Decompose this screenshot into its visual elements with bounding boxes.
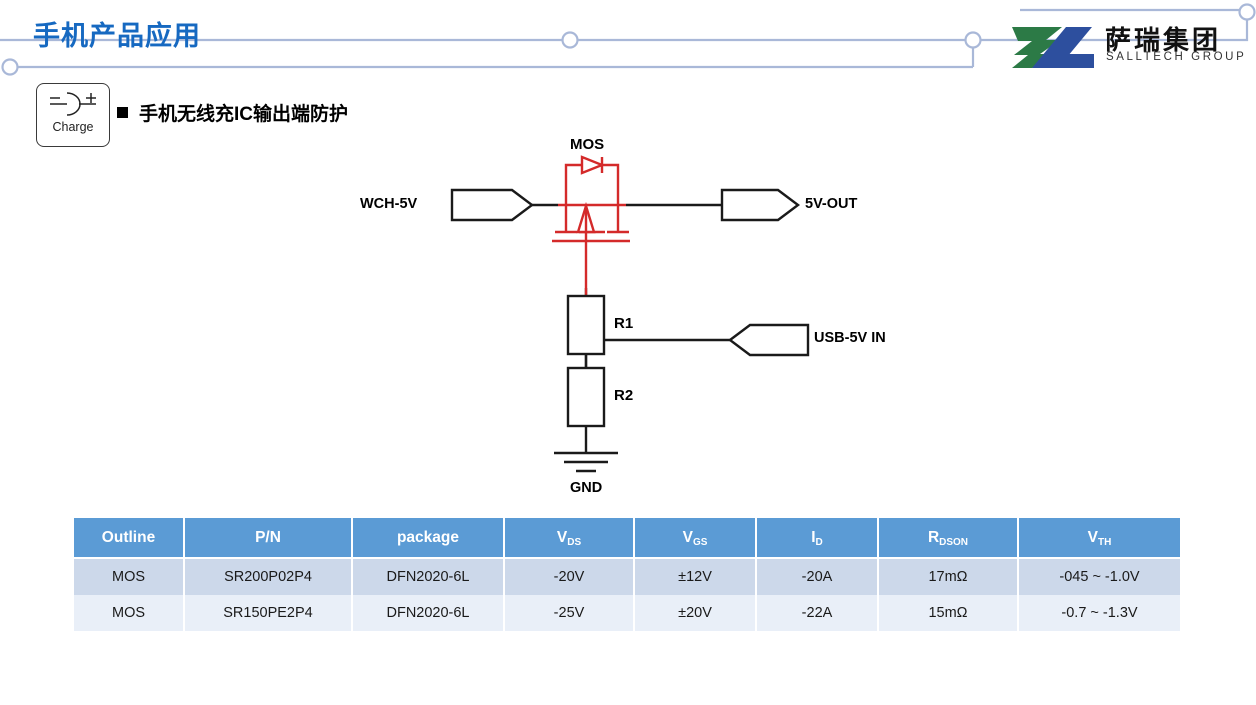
cell-id: -20A xyxy=(756,558,878,595)
mosfet-symbol xyxy=(552,157,630,296)
col-header-rdson: RDSON xyxy=(878,518,1018,558)
cell-rdson: 15mΩ xyxy=(878,595,1018,631)
deco-node-right xyxy=(966,33,981,48)
col-header-id: ID xyxy=(756,518,878,558)
cell-package: DFN2020-6L xyxy=(352,558,504,595)
section-subtitle: 手机无线充IC输出端防护 xyxy=(117,99,348,126)
company-logo: 萨瑞集团 SALLTECH GROUP xyxy=(1010,22,1250,74)
mos-label: MOS xyxy=(570,136,604,153)
col-header-vth: VTH xyxy=(1018,518,1180,558)
r1-label: R1 xyxy=(614,315,633,332)
cell-vth: -045 ~ -1.0V xyxy=(1018,558,1180,595)
port-wch-5v-label: WCH-5V xyxy=(360,196,417,212)
table-row: MOS SR150PE2P4 DFN2020-6L -25V ±20V -22A… xyxy=(74,595,1180,631)
page-title: 手机产品应用 xyxy=(33,14,201,53)
charge-badge: Charge xyxy=(36,83,110,147)
cell-vds: -20V xyxy=(504,558,634,595)
table-row: MOS SR200P02P4 DFN2020-6L -20V ±12V -20A… xyxy=(74,558,1180,595)
square-bullet-icon xyxy=(117,107,128,118)
col-header-pn: P/N xyxy=(184,518,352,558)
port-usb-5v-in-flag xyxy=(730,325,808,355)
charge-icon xyxy=(37,88,109,120)
r2-label: R2 xyxy=(614,387,633,404)
col-header-package: package xyxy=(352,518,504,558)
cell-package: DFN2020-6L xyxy=(352,595,504,631)
cell-outline: MOS xyxy=(74,595,184,631)
deco-node-topright xyxy=(1240,5,1255,20)
salltech-logo-mark xyxy=(1010,24,1096,70)
ground-symbol xyxy=(554,453,618,471)
port-5v-out-flag xyxy=(722,190,798,220)
port-5v-out-label: 5V-OUT xyxy=(805,196,857,212)
resistor-r1 xyxy=(568,296,604,354)
cell-vth: -0.7 ~ -1.3V xyxy=(1018,595,1180,631)
port-wch-5v-flag xyxy=(452,190,532,220)
cell-vgs: ±20V xyxy=(634,595,756,631)
cell-pn: SR150PE2P4 xyxy=(184,595,352,631)
deco-node-left xyxy=(3,60,18,75)
cell-vds: -25V xyxy=(504,595,634,631)
cell-id: -22A xyxy=(756,595,878,631)
deco-node-mid xyxy=(563,33,578,48)
cell-outline: MOS xyxy=(74,558,184,595)
port-usb-5v-in-label: USB-5V IN xyxy=(814,330,886,346)
table-header-row: Outline P/N package VDS VGS ID RDSON VTH xyxy=(74,518,1180,558)
col-header-vgs: VGS xyxy=(634,518,756,558)
col-header-outline: Outline xyxy=(74,518,184,558)
resistor-r2 xyxy=(568,368,604,426)
col-header-vds: VDS xyxy=(504,518,634,558)
gnd-label: GND xyxy=(570,480,602,496)
cell-vgs: ±12V xyxy=(634,558,756,595)
logo-english-name: SALLTECH GROUP xyxy=(1106,51,1246,63)
parameter-table: Outline P/N package VDS VGS ID RDSON VTH… xyxy=(74,518,1180,631)
charge-badge-label: Charge xyxy=(37,120,109,134)
cell-pn: SR200P02P4 xyxy=(184,558,352,595)
cell-rdson: 17mΩ xyxy=(878,558,1018,595)
circuit-schematic: MOS WCH-5V 5V-OUT USB-5V IN R1 R2 GND xyxy=(330,128,930,518)
section-subtitle-text: 手机无线充IC输出端防护 xyxy=(139,99,348,126)
